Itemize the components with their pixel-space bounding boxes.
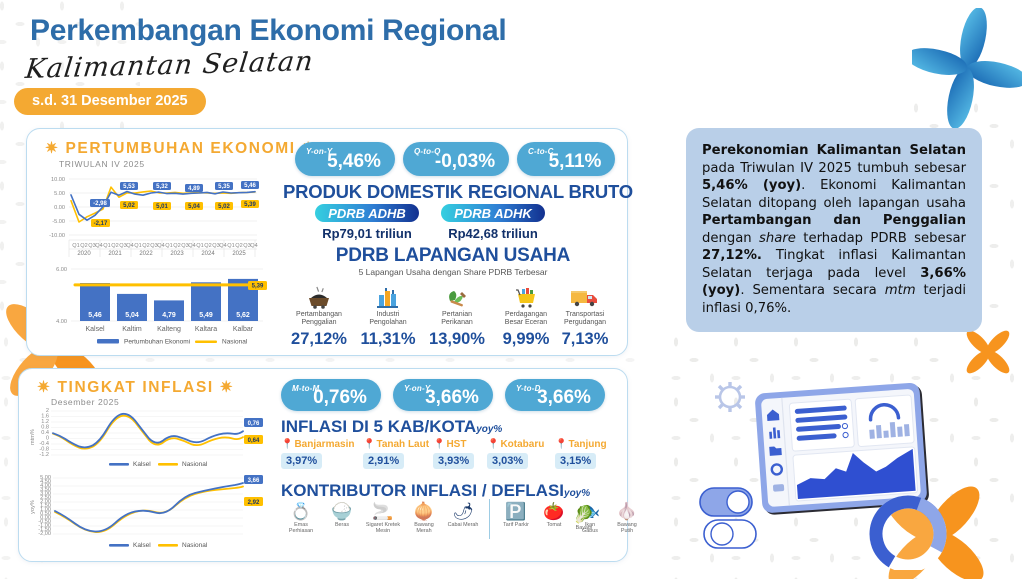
svg-text:5,04: 5,04 bbox=[125, 312, 139, 319]
kontributor-name-0: Emas Perhiasan bbox=[281, 523, 321, 535]
svg-text:0.00: 0.00 bbox=[54, 205, 65, 211]
svg-text:Kalsel: Kalsel bbox=[133, 542, 151, 549]
kontributor-name-5: Tarif Parkir bbox=[496, 523, 536, 529]
chart-pertumbuhan-provinsi: 6.00 4.00 5,39 5,46 5,04 4, bbox=[35, 261, 271, 347]
svg-text:0,64: 0,64 bbox=[248, 438, 260, 444]
svg-text:Q2: Q2 bbox=[142, 243, 149, 249]
kab-label-tanjung: 📍Tanjung bbox=[555, 439, 607, 450]
svg-text:2024: 2024 bbox=[201, 251, 215, 257]
lapangan-usaha-value-2: 13,90% bbox=[421, 330, 493, 349]
panel-tingkat-inflasi: ✷ TINGKAT INFLASI ✷ Desember 2025 mtm% 2… bbox=[18, 368, 628, 562]
toggle-switch-on bbox=[700, 488, 752, 516]
svg-text:Q4: Q4 bbox=[219, 243, 226, 249]
svg-text:Nasional: Nasional bbox=[182, 461, 208, 468]
kontributor-heading-unit: yoy% bbox=[564, 488, 590, 499]
svg-text:Q1: Q1 bbox=[196, 243, 203, 249]
svg-text:6.00: 6.00 bbox=[56, 267, 67, 273]
spinach-icon: 🥬 bbox=[564, 505, 604, 525]
badge-ytod-inflation-label: Y-to-D bbox=[516, 384, 541, 393]
svg-text:5,32: 5,32 bbox=[156, 184, 168, 190]
svg-text:Kalsel: Kalsel bbox=[85, 326, 105, 333]
svg-text:4,89: 4,89 bbox=[188, 186, 200, 192]
kab-kota-heading-unit: yoy% bbox=[476, 424, 502, 435]
mining-cart-icon bbox=[283, 279, 355, 309]
svg-text:4.00: 4.00 bbox=[56, 319, 67, 325]
svg-text:Q1: Q1 bbox=[227, 243, 234, 249]
pdrb-adhk-pill: PDRB ADHK bbox=[441, 204, 545, 222]
pdrb-adhb-label: PDRB ADHB bbox=[328, 206, 406, 221]
kab-item-tanjung: 📍Tanjung 3,15% bbox=[555, 439, 607, 469]
infographic-page: Perkembangan Ekonomi Regional Kalimantan… bbox=[0, 0, 1024, 579]
inflation-section-title: ✷ TINGKAT INFLASI ✷ bbox=[37, 378, 234, 397]
agriculture-icon bbox=[421, 279, 493, 309]
pdrb-adhb-pill: PDRB ADHB bbox=[315, 204, 419, 222]
svg-text:Kalteng: Kalteng bbox=[157, 326, 181, 333]
quarterly-yellow-labels: -2,17 5,02 5,01 5,04 5,02 5,39 bbox=[91, 200, 259, 227]
kab-value-banjarmasin: 3,97% bbox=[281, 453, 322, 469]
lapangan-usaha-name-2: Pertanian Perikanan bbox=[421, 311, 493, 327]
badge-mtom-inflation: M-to-M 0,76% bbox=[281, 379, 381, 411]
svg-text:Q2: Q2 bbox=[80, 243, 87, 249]
kontributor-name-3: Bawang Merah bbox=[404, 523, 444, 535]
cigarette-icon: 🚬 bbox=[363, 502, 403, 522]
pdrb-adhk-value: Rp42,68 triliun bbox=[441, 226, 545, 241]
svg-text:10.00: 10.00 bbox=[51, 177, 65, 183]
svg-text:Q2: Q2 bbox=[204, 243, 211, 249]
svg-text:Q2: Q2 bbox=[173, 243, 180, 249]
growth-section-title: ✷ PERTUMBUHAN EKONOMI ✷ bbox=[45, 139, 316, 158]
svg-text:2025: 2025 bbox=[232, 251, 246, 257]
kontributor-heading-text: KONTRIBUTOR INFLASI / DEFLASI bbox=[281, 481, 564, 500]
badge-yony-inflation: Y-on-Y 3,66% bbox=[393, 379, 493, 411]
svg-text:Q4: Q4 bbox=[95, 243, 102, 249]
kab-item-tanah-laut: 📍Tanah Laut 2,91% bbox=[363, 439, 429, 469]
svg-text:5,39: 5,39 bbox=[252, 284, 264, 290]
svg-text:Kaltara: Kaltara bbox=[195, 326, 217, 333]
lapangan-usaha-item-1: Industri Pengolahan 11,31% bbox=[352, 279, 424, 349]
blue-flower-decoration bbox=[912, 8, 1022, 128]
period-badge: s.d. 31 Desember 2025 bbox=[14, 88, 206, 115]
svg-text:Q2: Q2 bbox=[111, 243, 118, 249]
badge-ctoc-growth: C-to-C 5,11% bbox=[517, 142, 615, 176]
location-pin-icon: 📍 bbox=[487, 439, 499, 450]
pdrb-adhb-value: Rp79,01 triliun bbox=[315, 226, 419, 241]
kontributor-heading: KONTRIBUTOR INFLASI / DEFLASIyoy% bbox=[281, 481, 590, 501]
svg-text:Kalsel: Kalsel bbox=[133, 461, 151, 468]
badge-yoy-growth: Y-on-Y 5,46% bbox=[295, 142, 395, 176]
svg-text:5.00: 5.00 bbox=[54, 191, 65, 197]
bar-chart-legend: Pertumbuhan Ekonomi Nasional bbox=[97, 339, 248, 346]
pdrb-adhk-label: PDRB ADHK bbox=[454, 206, 532, 221]
kontributor-name-9: Bayam bbox=[564, 526, 604, 532]
chili-icon: 🌶 bbox=[443, 502, 483, 522]
lapangan-usaha-item-4: Transportasi Pergudangan 7,13% bbox=[549, 279, 621, 349]
svg-text:5,35: 5,35 bbox=[218, 184, 230, 190]
lapangan-usaha-item-2: Pertanian Perikanan 13,90% bbox=[421, 279, 493, 349]
badge-mtom-inflation-label: M-to-M bbox=[292, 384, 319, 393]
badge-yoy-growth-label: Y-on-Y bbox=[306, 147, 332, 156]
kab-label-tanah-laut: 📍Tanah Laut bbox=[363, 439, 429, 450]
kontributor-name-1: Beras bbox=[322, 523, 362, 529]
svg-text:2021: 2021 bbox=[108, 251, 122, 257]
location-pin-icon: 📍 bbox=[433, 439, 445, 450]
svg-text:-2,17: -2,17 bbox=[94, 221, 108, 227]
lapangan-usaha-subheading: 5 Lapangan Usaha dengan Share PDRB Terbe… bbox=[283, 267, 623, 277]
lapangan-usaha-name-1: Industri Pengolahan bbox=[352, 311, 424, 327]
svg-text:Q1: Q1 bbox=[72, 243, 79, 249]
parking-icon: 🅿️ bbox=[496, 502, 536, 522]
svg-text:mtm%: mtm% bbox=[30, 429, 36, 445]
svg-text:Q4: Q4 bbox=[157, 243, 164, 249]
svg-text:0,76: 0,76 bbox=[248, 421, 260, 427]
location-pin-icon: 📍 bbox=[281, 439, 293, 450]
growth-section-subtitle: TRIWULAN IV 2025 bbox=[59, 159, 145, 169]
shallot-icon: 🧅 bbox=[404, 502, 444, 522]
badge-qtoq-growth: Q-to-Q -0,03% bbox=[403, 142, 509, 176]
svg-text:Q4: Q4 bbox=[188, 243, 195, 249]
lapangan-usaha-name-0: Pertambangan Penggalian bbox=[283, 311, 355, 327]
chart-inflasi-mtm: mtm% 21.61.2 0.80.40 -0.4-0.8-1.2 bbox=[25, 407, 275, 469]
kontributor-item-4: 🌶 Cabai Merah bbox=[443, 502, 483, 529]
svg-text:Q2: Q2 bbox=[235, 243, 242, 249]
inflation-section-subtitle: Desember 2025 bbox=[51, 397, 119, 407]
svg-text:4,79: 4,79 bbox=[162, 312, 176, 319]
svg-text:Q1: Q1 bbox=[165, 243, 172, 249]
badge-qtoq-growth-label: Q-to-Q bbox=[414, 147, 441, 156]
svg-text:Kalbar: Kalbar bbox=[233, 326, 254, 333]
kontributor-item-9: 🥬 Bayam bbox=[564, 505, 604, 532]
kab-kota-heading: INFLASI DI 5 KAB/KOTAyoy% bbox=[281, 417, 502, 437]
lapangan-usaha-value-0: 27,12% bbox=[283, 330, 355, 349]
svg-text:5,46: 5,46 bbox=[244, 183, 256, 189]
svg-text:5,46: 5,46 bbox=[88, 312, 102, 319]
kab-label-banjarmasin: 📍Banjarmasin bbox=[281, 439, 354, 450]
svg-text:Pertumbuhan Ekonomi: Pertumbuhan Ekonomi bbox=[124, 339, 190, 346]
svg-text:2020: 2020 bbox=[77, 251, 91, 257]
page-subtitle: Kalimantan Selatan bbox=[24, 46, 316, 85]
kab-value-tanjung: 3,15% bbox=[555, 453, 596, 469]
kab-value-hst: 3,93% bbox=[433, 453, 474, 469]
badge-ctoc-growth-label: C-to-C bbox=[528, 147, 554, 156]
svg-text:5,04: 5,04 bbox=[188, 204, 200, 210]
kontributor-item-8: 🧄 Bawang Putih bbox=[607, 502, 647, 535]
svg-text:yoy%: yoy% bbox=[30, 500, 36, 514]
svg-text:-2,98: -2,98 bbox=[93, 201, 107, 207]
svg-text:-10.00: -10.00 bbox=[49, 233, 65, 239]
gold-jewelry-icon: 💍 bbox=[281, 502, 321, 522]
svg-text:5,53: 5,53 bbox=[123, 184, 135, 190]
summary-text-box: Perekonomian Kalimantan Selatan pada Tri… bbox=[686, 128, 982, 332]
mtm-legend: Kalsel Nasional bbox=[109, 461, 208, 468]
kontributor-item-2: 🚬 Sigaret Kretek Mesin bbox=[363, 502, 403, 535]
lapangan-usaha-value-1: 11,31% bbox=[352, 330, 424, 349]
svg-text:Q4: Q4 bbox=[250, 243, 257, 249]
svg-text:Q1: Q1 bbox=[103, 243, 110, 249]
svg-text:-2,00: -2,00 bbox=[38, 531, 51, 537]
chart-inflasi-yoy: yoy% 5,004,504,00 3,503,002,50 2,001,501… bbox=[25, 472, 275, 552]
lapangan-usaha-item-0: Pertambangan Penggalian 27,12% bbox=[283, 279, 355, 349]
svg-text:2023: 2023 bbox=[170, 251, 184, 257]
svg-text:Nasional: Nasional bbox=[182, 542, 208, 549]
truck-icon bbox=[549, 279, 621, 309]
kontributor-divider bbox=[489, 499, 490, 539]
garlic-icon: 🧄 bbox=[607, 502, 647, 522]
svg-text:5,01: 5,01 bbox=[156, 204, 168, 210]
chart-pertumbuhan-quarterly: 10.00 5.00 0.00 -5.00 -10.00 -2,98 5,53 … bbox=[35, 171, 265, 259]
panel-pertumbuhan-ekonomi: ✷ PERTUMBUHAN EKONOMI ✷ TRIWULAN IV 2025… bbox=[26, 128, 628, 356]
kontributor-item-1: 🍚 Beras bbox=[322, 502, 362, 529]
kab-label-kotabaru: 📍Kotabaru bbox=[487, 439, 544, 450]
gear-icon bbox=[715, 382, 745, 412]
kontributor-name-8: Bawang Putih bbox=[607, 523, 647, 535]
kab-value-kotabaru: 3,03% bbox=[487, 453, 528, 469]
svg-text:5,39: 5,39 bbox=[244, 202, 256, 208]
lapangan-usaha-value-4: 7,13% bbox=[549, 330, 621, 349]
page-title: Perkembangan Ekonomi Regional bbox=[30, 14, 506, 48]
svg-text:Q1: Q1 bbox=[134, 243, 141, 249]
svg-text:5,02: 5,02 bbox=[123, 203, 135, 209]
kab-item-banjarmasin: 📍Banjarmasin 3,97% bbox=[281, 439, 354, 469]
dashboard-illustration bbox=[690, 370, 1000, 570]
kab-kota-heading-text: INFLASI DI 5 KAB/KOTA bbox=[281, 417, 476, 436]
pdrb-heading: PRODUK DOMESTIK REGIONAL BRUTO bbox=[283, 181, 623, 203]
factory-icon bbox=[352, 279, 424, 309]
svg-text:Q4: Q4 bbox=[126, 243, 133, 249]
lapangan-usaha-heading: PDRB LAPANGAN USAHA bbox=[283, 245, 623, 267]
location-pin-icon: 📍 bbox=[363, 439, 375, 450]
badge-ytod-inflation: Y-to-D 3,66% bbox=[505, 379, 605, 411]
kontributor-item-5: 🅿️ Tarif Parkir bbox=[496, 502, 536, 529]
badge-yony-inflation-label: Y-on-Y bbox=[404, 384, 430, 393]
rice-icon: 🍚 bbox=[322, 502, 362, 522]
svg-text:Kaltim: Kaltim bbox=[122, 326, 142, 333]
svg-text:-1.2: -1.2 bbox=[39, 452, 49, 458]
kab-label-hst: 📍HST bbox=[433, 439, 474, 450]
toggle-switch-off bbox=[704, 520, 756, 548]
svg-text:5,62: 5,62 bbox=[236, 312, 250, 319]
location-pin-icon: 📍 bbox=[555, 439, 567, 450]
svg-text:-5.00: -5.00 bbox=[52, 219, 65, 225]
svg-text:2,92: 2,92 bbox=[248, 500, 260, 506]
kontributor-name-4: Cabai Merah bbox=[443, 523, 483, 529]
kab-item-hst: 📍HST 3,93% bbox=[433, 439, 474, 469]
yoy-legend: Kalsel Nasional bbox=[109, 542, 208, 549]
kab-item-kotabaru: 📍Kotabaru 3,03% bbox=[487, 439, 544, 469]
svg-text:3,66: 3,66 bbox=[248, 478, 260, 484]
svg-text:2022: 2022 bbox=[139, 251, 153, 257]
svg-text:5,02: 5,02 bbox=[218, 204, 230, 210]
lapangan-usaha-name-4: Transportasi Pergudangan bbox=[549, 311, 621, 327]
svg-text:5,49: 5,49 bbox=[199, 312, 213, 319]
kontributor-item-0: 💍 Emas Perhiasan bbox=[281, 502, 321, 535]
kab-value-tanah-laut: 2,91% bbox=[363, 453, 404, 469]
kontributor-name-2: Sigaret Kretek Mesin bbox=[363, 523, 403, 535]
svg-text:Nasional: Nasional bbox=[222, 339, 248, 346]
kontributor-item-3: 🧅 Bawang Merah bbox=[404, 502, 444, 535]
